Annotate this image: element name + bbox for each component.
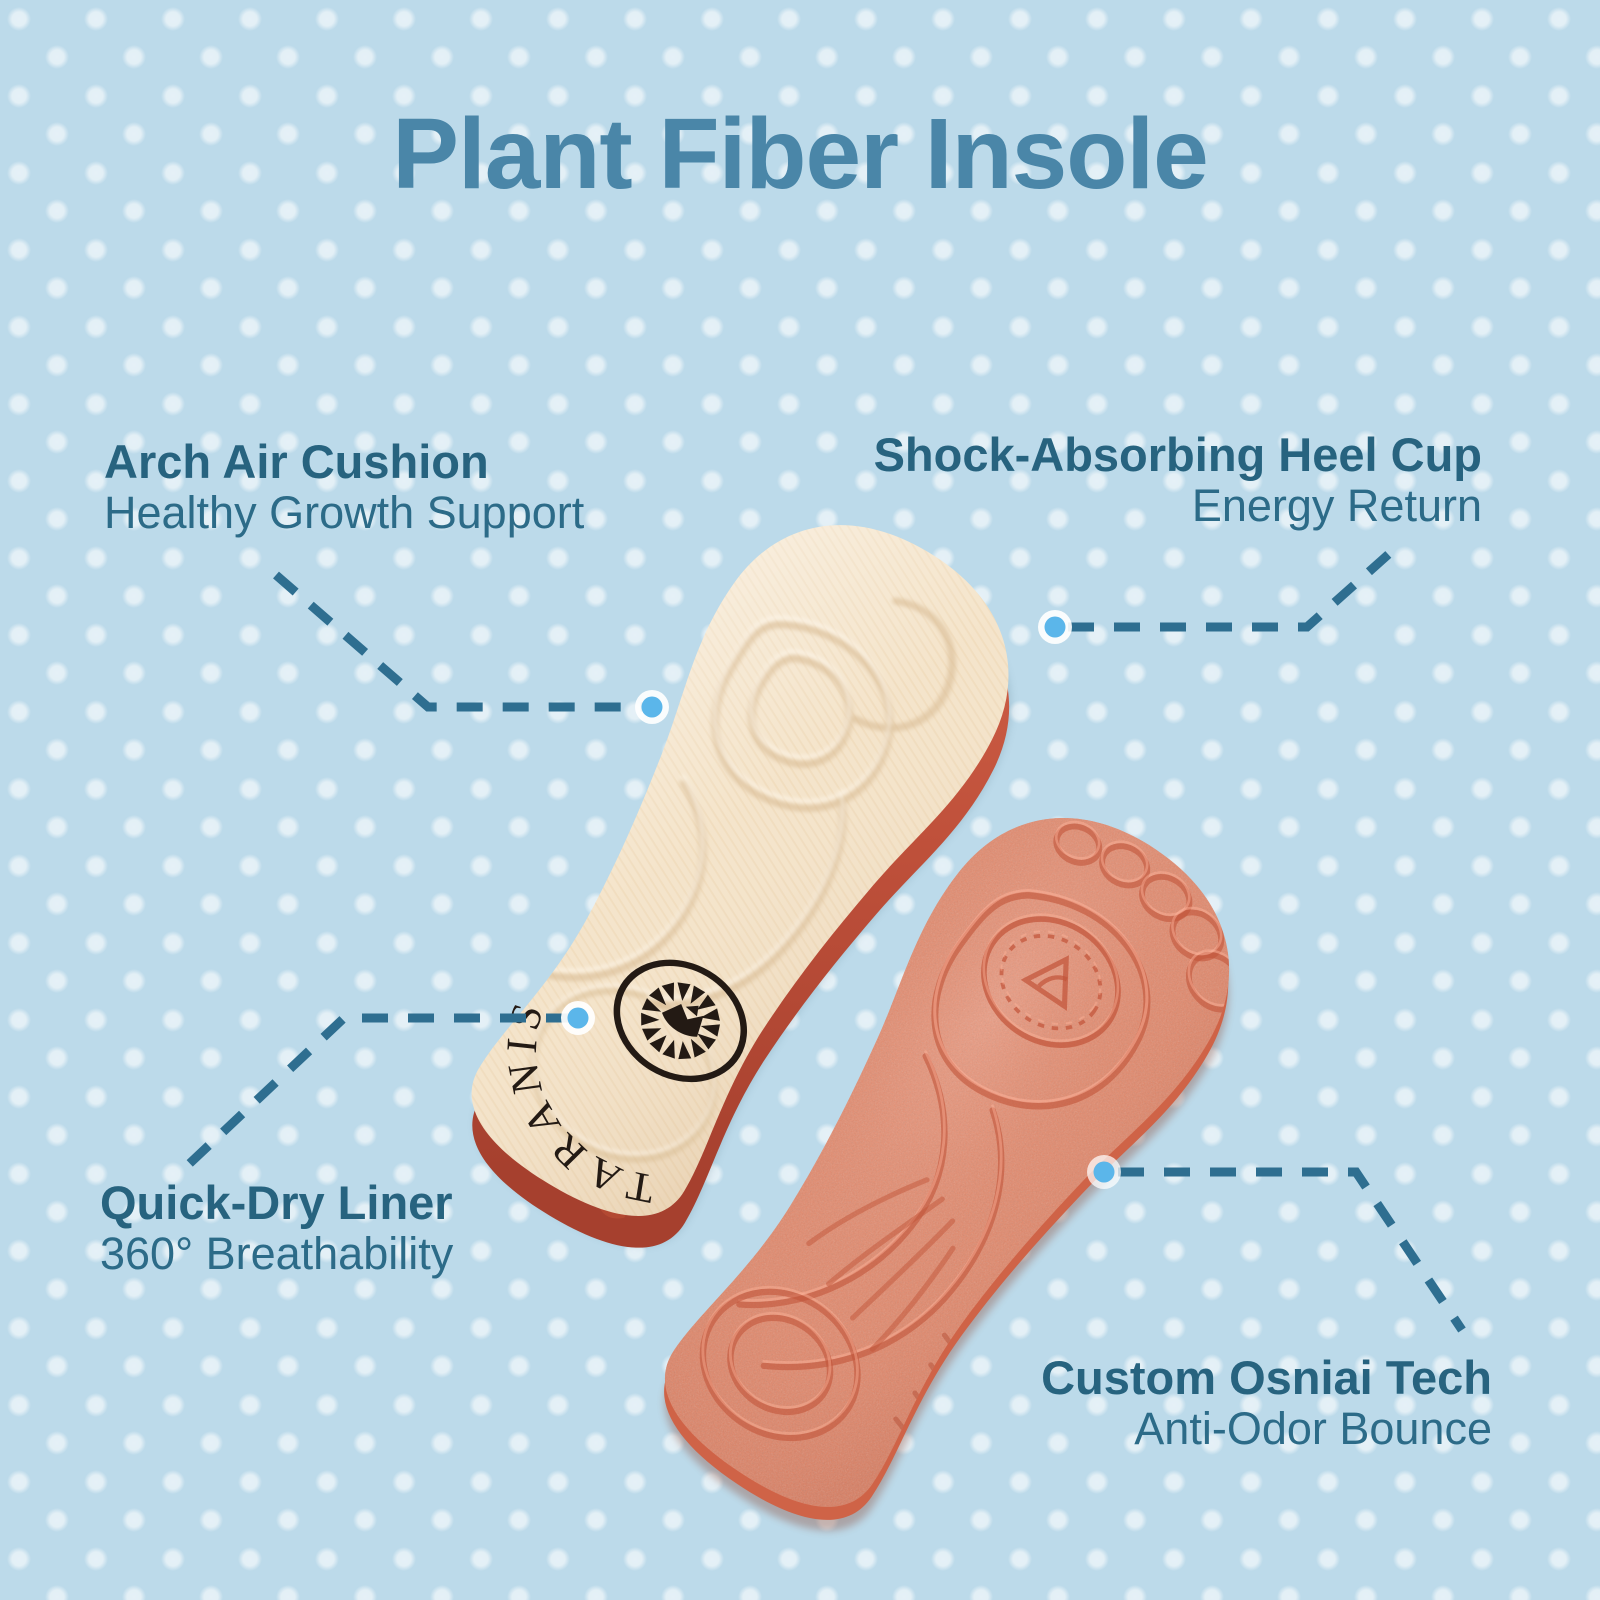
callout-arch-air-cushion: Arch Air Cushion Healthy Growth Support <box>104 437 584 538</box>
callout-shock-absorbing-heel-cup: Shock-Absorbing Heel Cup Energy Return <box>874 430 1482 531</box>
callout-arch-subtext: Healthy Growth Support <box>104 487 584 538</box>
callout-quickdry-subtext: 360° Breathability <box>100 1228 453 1279</box>
callout-quickdry-heading: Quick-Dry Liner <box>100 1178 453 1228</box>
callout-quick-dry-liner: Quick-Dry Liner 360° Breathability <box>100 1178 453 1279</box>
callout-arch-heading: Arch Air Cushion <box>104 437 584 487</box>
callout-heel-subtext: Energy Return <box>874 480 1482 531</box>
callout-osniai-heading: Custom Osniai Tech <box>1041 1353 1492 1403</box>
callout-osniai-subtext: Anti-Odor Bounce <box>1041 1403 1492 1454</box>
callout-heel-heading: Shock-Absorbing Heel Cup <box>874 430 1482 480</box>
callout-custom-osniai-tech: Custom Osniai Tech Anti-Odor Bounce <box>1041 1353 1492 1454</box>
